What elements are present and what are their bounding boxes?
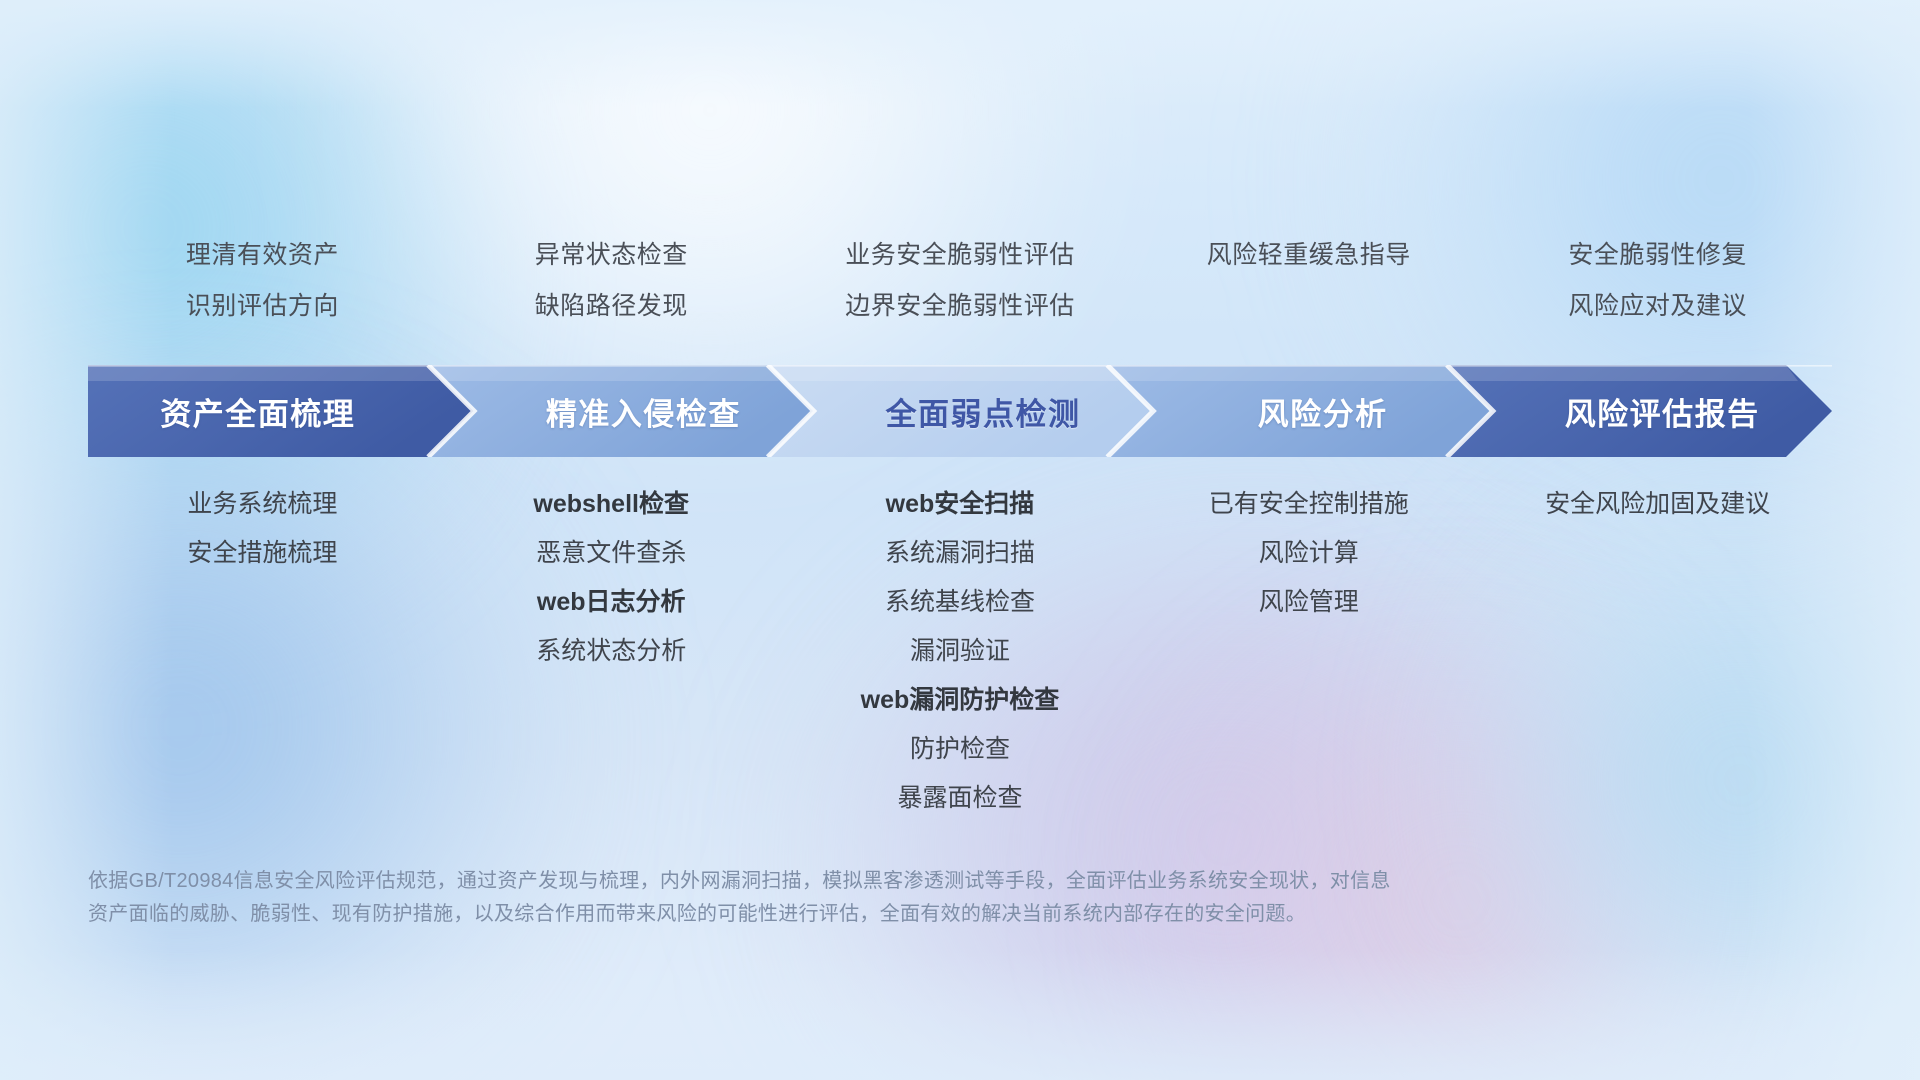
diagram-content: 理清有效资产识别评估方向异常状态检查缺陷路径发现业务安全脆弱性评估边界安全脆弱性… — [0, 0, 1920, 1080]
top-caption-column: 业务安全脆弱性评估边界安全脆弱性评估 — [786, 230, 1135, 332]
chevron-gloss — [88, 365, 440, 381]
top-caption: 安全脆弱性修复 — [1568, 230, 1747, 281]
footer-line-1: 依据GB/T20984信息安全风险评估规范，通过资产发现与梳理，内外网漏洞扫描，… — [88, 865, 1648, 898]
stage-item: 系统状态分析 — [536, 627, 686, 676]
stage-item: 安全风险加固及建议 — [1545, 480, 1770, 529]
stage-item: 系统基线检查 — [885, 578, 1035, 627]
stage-item: 系统漏洞扫描 — [885, 529, 1035, 578]
chevron-gloss — [1107, 365, 1459, 381]
top-caption: 风险应对及建议 — [1568, 281, 1747, 332]
top-caption: 边界安全脆弱性评估 — [845, 281, 1075, 332]
stage-item: 暴露面检查 — [897, 774, 1022, 823]
stage-item: 恶意文件查杀 — [536, 529, 686, 578]
stage-item: 漏洞验证 — [910, 627, 1010, 676]
chevron-band-svg — [88, 365, 1832, 457]
stage-item: 已有安全控制措施 — [1209, 480, 1409, 529]
top-caption: 风险轻重缓急指导 — [1207, 230, 1411, 281]
stage-item: 防护检查 — [910, 725, 1010, 774]
stage-item: 风险管理 — [1259, 578, 1359, 627]
top-caption: 异常状态检查 — [535, 230, 688, 281]
stage-items-column: webshell检查恶意文件查杀web日志分析系统状态分析 — [437, 480, 786, 823]
process-chevron-band: 资产全面梳理精准入侵检查全面弱点检测风险分析风险评估报告 — [88, 365, 1832, 457]
stage-items-column: web安全扫描系统漏洞扫描系统基线检查漏洞验证web漏洞防护检查防护检查暴露面检… — [786, 480, 1135, 823]
footer-description: 依据GB/T20984信息安全风险评估规范，通过资产发现与梳理，内外网漏洞扫描，… — [88, 865, 1648, 931]
top-caption: 理清有效资产 — [186, 230, 339, 281]
stage-items-column: 已有安全控制措施风险计算风险管理 — [1134, 480, 1483, 823]
stage-items-column: 业务系统梳理安全措施梳理 — [88, 480, 437, 823]
stage-item: web安全扫描 — [886, 480, 1035, 529]
top-caption-column: 理清有效资产识别评估方向 — [88, 230, 437, 332]
chevron-gloss — [767, 365, 1119, 381]
top-caption: 缺陷路径发现 — [535, 281, 688, 332]
stage-item: 业务系统梳理 — [187, 480, 337, 529]
chevron-gloss — [1446, 365, 1798, 381]
stage-item: web日志分析 — [537, 578, 686, 627]
stage-item: webshell检查 — [533, 480, 689, 529]
top-caption-column: 风险轻重缓急指导 — [1134, 230, 1483, 332]
top-caption: 业务安全脆弱性评估 — [845, 230, 1075, 281]
stage-item: 安全措施梳理 — [187, 529, 337, 578]
footer-line-2: 资产面临的威胁、脆弱性、现有防护措施，以及综合作用而带来风险的可能性进行评估，全… — [88, 898, 1648, 931]
stage-items-column: 安全风险加固及建议 — [1483, 480, 1832, 823]
top-caption-column: 安全脆弱性修复风险应对及建议 — [1483, 230, 1832, 332]
bottom-items-row: 业务系统梳理安全措施梳理webshell检查恶意文件查杀web日志分析系统状态分… — [88, 480, 1832, 823]
chevron-gloss — [428, 365, 780, 381]
stage-item: 风险计算 — [1259, 529, 1359, 578]
top-caption-column: 异常状态检查缺陷路径发现 — [437, 230, 786, 332]
top-captions-row: 理清有效资产识别评估方向异常状态检查缺陷路径发现业务安全脆弱性评估边界安全脆弱性… — [88, 230, 1832, 332]
stage-item: web漏洞防护检查 — [861, 676, 1060, 725]
top-caption: 识别评估方向 — [186, 281, 339, 332]
